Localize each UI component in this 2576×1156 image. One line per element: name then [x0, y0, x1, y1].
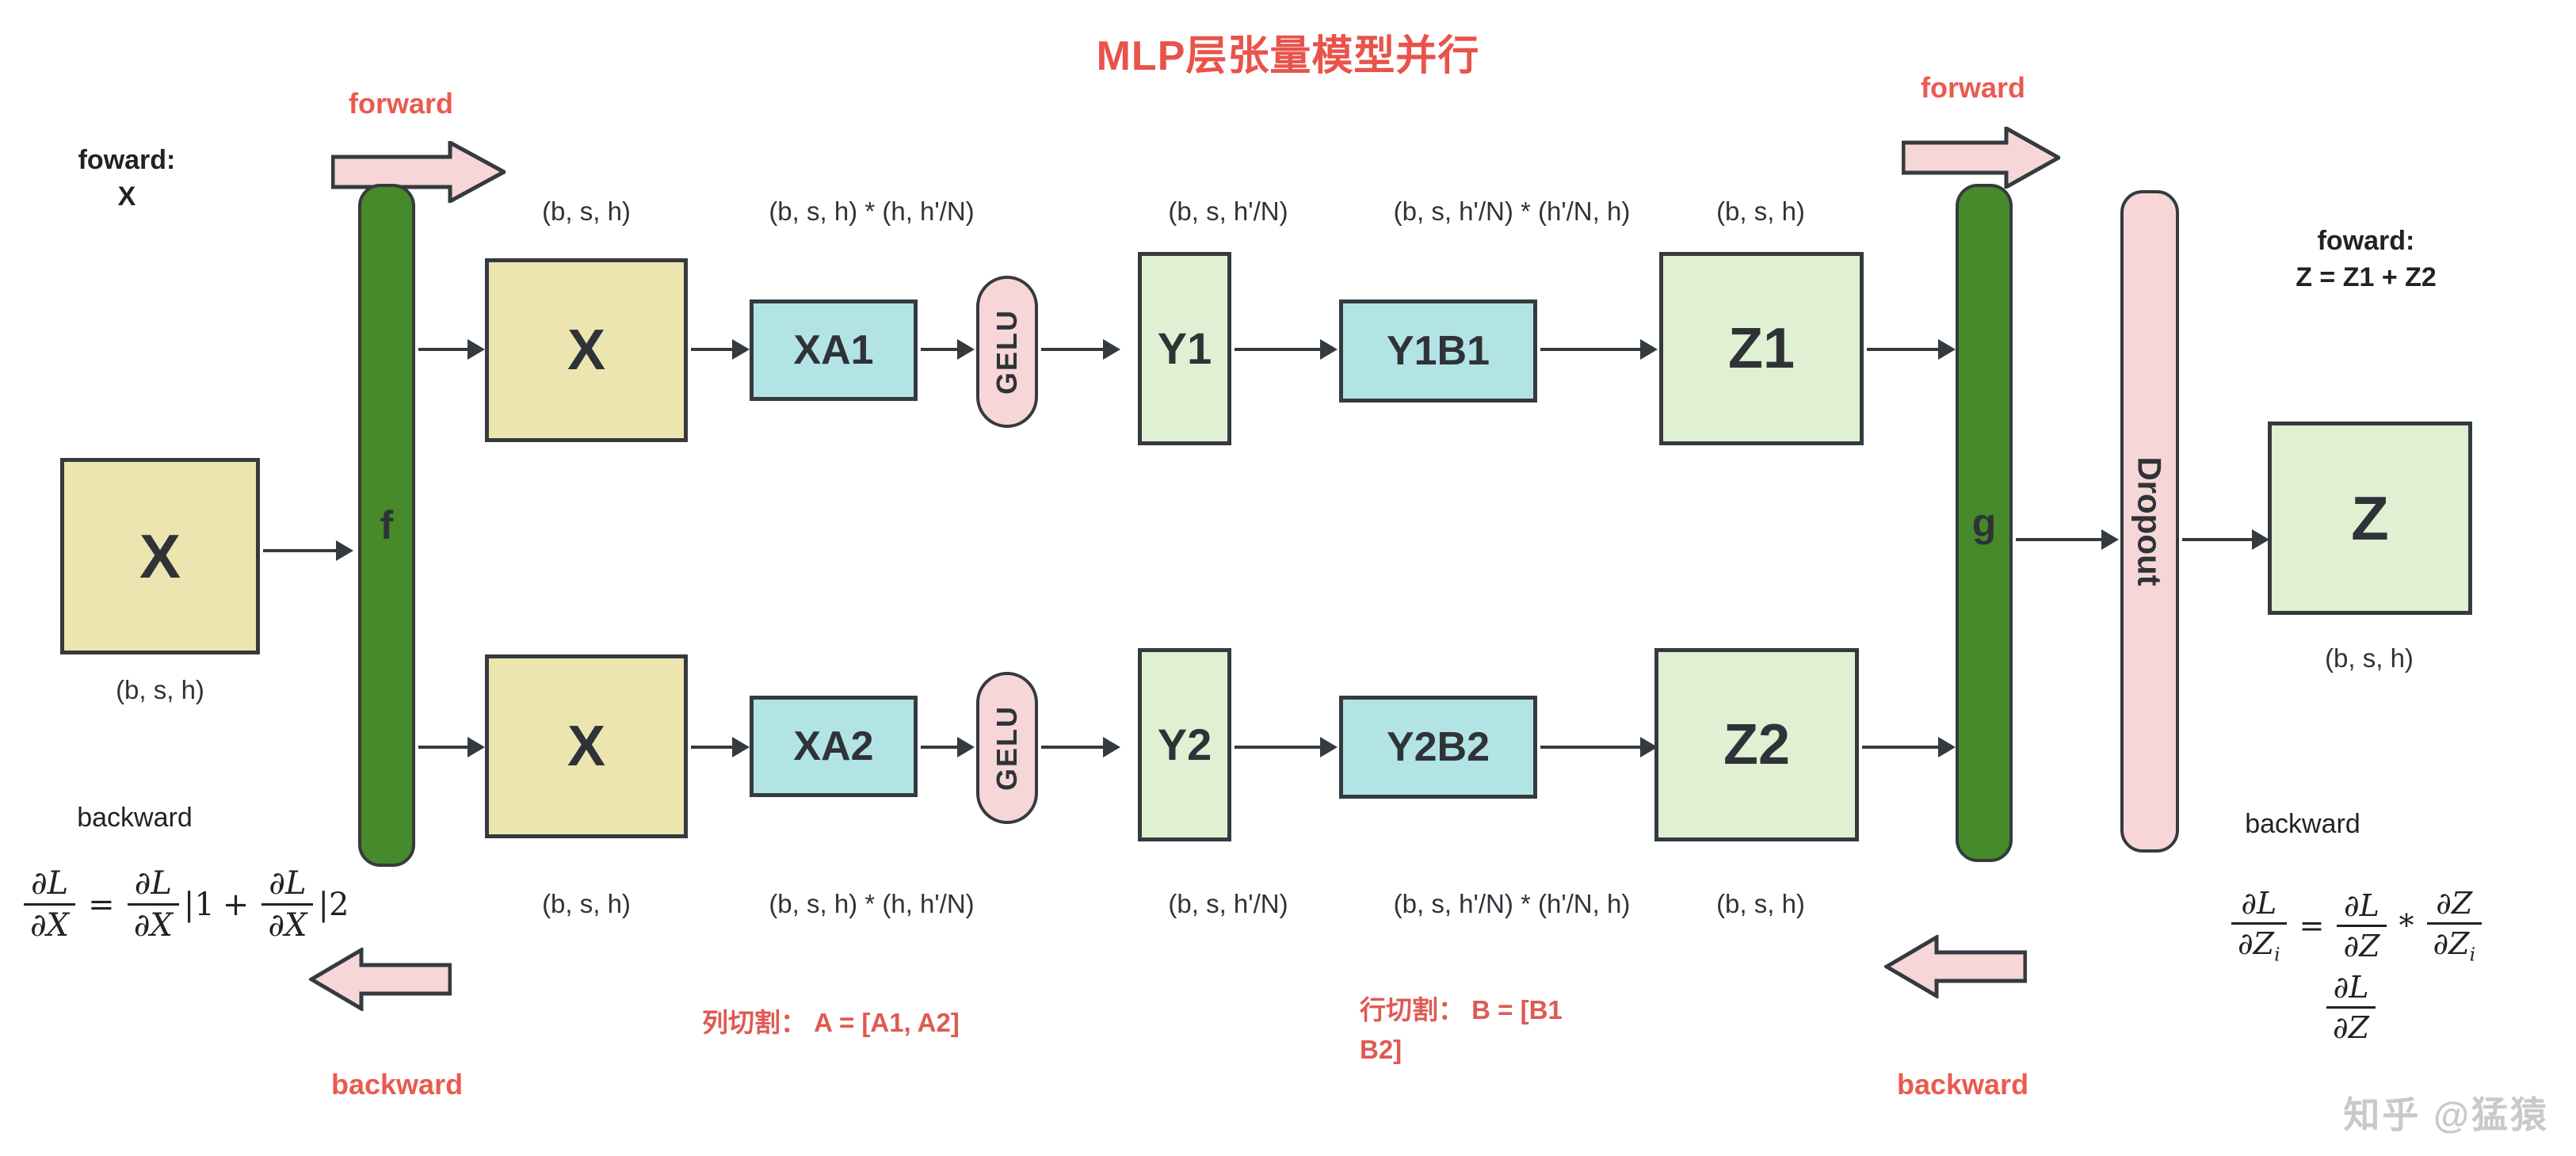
connector-row-1-x-to-xa	[691, 339, 750, 360]
connector-x-to-f	[263, 540, 353, 561]
f-bar-label: f	[380, 502, 394, 548]
dropout-label: Dropout	[2131, 456, 2169, 586]
right-backward-block-arrow-icon	[1884, 935, 2027, 998]
row-2-z-label: Z2	[1723, 716, 1790, 773]
right-forward-note: foward: Z = Z1 + Z2	[2208, 223, 2524, 296]
dim-top-2: (b, s, h'/N)	[1101, 196, 1355, 227]
connector-row-1-yb-to-z	[1540, 339, 1658, 360]
left-backward-arrow-label: backward	[331, 1068, 463, 1101]
left-forward-note: foward: X	[32, 143, 222, 216]
left-formula-plus: +	[223, 887, 250, 923]
right-formula-equals: =	[2299, 908, 2325, 943]
connector-row-2-x-to-xa	[691, 737, 750, 757]
connector-row-1-xa-to-gelu	[921, 339, 975, 360]
column-split-note: 列切割： A = [A1, A2]	[702, 1003, 960, 1043]
connector-row-2-yb-to-z	[1540, 737, 1658, 757]
row-1-yb-label: Y1B1	[1387, 330, 1490, 372]
left-forward-block-arrow-icon	[331, 141, 506, 203]
right-forward-block-arrow-icon	[1902, 127, 2060, 189]
output-z-dim: (b, s, h)	[2250, 643, 2488, 673]
row-2-xa-box: XA2	[750, 696, 918, 797]
right-formula-t1-den: ∂Z	[2337, 925, 2386, 963]
row-2-yb-box: Y2B2	[1339, 696, 1537, 799]
dropout-bar: Dropout	[2120, 190, 2179, 853]
dim-bottom-1: (b, s, h) * (h, h'/N)	[713, 889, 1030, 919]
diagram-canvas: MLP层张量模型并行 foward: X forward X (b, s, h)…	[0, 0, 2576, 1156]
row-2-gelu-node: GELU	[976, 672, 1038, 824]
left-formula-lhs: ∂L ∂X	[24, 865, 75, 944]
row-2-y-label: Y2	[1158, 723, 1212, 767]
right-formula-line2-den: ∂Z	[2326, 1006, 2376, 1045]
left-formula-term1: ∂L ∂X	[128, 865, 179, 944]
right-formula-term2: ∂Z ∂Zi	[2427, 886, 2483, 966]
right-formula-t1-num: ∂L	[2337, 888, 2386, 925]
right-backward-formula-line2: ∂L ∂Z	[2322, 970, 2380, 1045]
connector-row-2-gelu-to-y	[1041, 737, 1120, 757]
left-formula-t1-den: ∂X	[128, 903, 179, 944]
right-backward-label: backward	[2192, 807, 2414, 843]
input-x-label: X	[139, 525, 181, 587]
left-backward-formula: ∂L ∂X = ∂L ∂X |1 + ∂L ∂X |2	[19, 865, 349, 944]
right-formula-multiply: *	[2399, 908, 2414, 943]
left-formula-t2-suffix: |2	[318, 887, 349, 923]
connector-g-to-dropout	[2016, 529, 2119, 550]
right-formula-lhs-den: ∂Zi	[2231, 922, 2287, 966]
left-formula-t1-num: ∂L	[128, 865, 178, 903]
right-formula-lhs: ∂L ∂Zi	[2231, 886, 2287, 966]
connector-f-to-x-row2	[418, 737, 485, 757]
output-z-label: Z	[2351, 487, 2389, 549]
connector-f-to-x-row1	[418, 339, 485, 360]
right-formula-line2-num: ∂L	[2327, 970, 2376, 1006]
connector-row-1-gelu-to-y	[1041, 339, 1120, 360]
connector-row-1-z-to-g	[1867, 339, 1956, 360]
left-formula-equals: =	[88, 887, 115, 923]
row-1-gelu-node: GELU	[976, 276, 1038, 428]
connector-row-1-y-to-yb	[1235, 339, 1338, 360]
connector-row-2-y-to-yb	[1235, 737, 1338, 757]
row-1-y-box: Y1	[1138, 252, 1231, 445]
row-2-xa-label: XA2	[793, 726, 873, 767]
left-formula-lhs-den: ∂X	[24, 903, 75, 944]
right-forward-arrow-label: forward	[1921, 71, 2025, 105]
right-backward-formula: ∂L ∂Zi = ∂L ∂Z * ∂Z ∂Zi	[2227, 886, 2486, 966]
dim-bottom-4: (b, s, h)	[1642, 889, 1880, 919]
left-formula-term2: ∂L ∂X	[261, 865, 313, 944]
left-forward-arrow-label: forward	[349, 87, 453, 120]
dim-bottom-0: (b, s, h)	[472, 889, 700, 919]
left-formula-lhs-num: ∂L	[25, 865, 74, 903]
input-x-box: X	[60, 458, 260, 654]
row-1-yb-box: Y1B1	[1339, 299, 1537, 403]
left-backward-block-arrow-icon	[309, 948, 452, 1011]
right-formula-t2-den: ∂Zi	[2427, 922, 2483, 966]
row-1-z-label: Z1	[1728, 320, 1795, 377]
f-gather-bar: f	[358, 184, 415, 867]
dim-top-4: (b, s, h)	[1642, 196, 1880, 227]
left-formula-t1-suffix: |1	[184, 887, 215, 923]
row-2-x-box: X	[485, 654, 688, 838]
right-formula-term1: ∂L ∂Z	[2337, 888, 2386, 963]
left-formula-t2-den: ∂X	[261, 903, 313, 944]
row-1-xa-label: XA1	[793, 330, 873, 371]
row-1-xa-box: XA1	[750, 299, 918, 401]
row-2-yb-label: Y2B2	[1387, 727, 1490, 768]
page-title: MLP层张量模型并行	[0, 22, 2576, 82]
right-formula-t2-num: ∂Z	[2429, 886, 2479, 922]
left-backward-label: backward	[24, 800, 246, 837]
g-gather-bar: g	[1956, 184, 2013, 862]
right-formula-line2-frac: ∂L ∂Z	[2326, 970, 2376, 1045]
dim-top-0: (b, s, h)	[472, 196, 700, 227]
left-formula-t2-num: ∂L	[262, 865, 312, 903]
row-2-gelu-label: GELU	[990, 705, 1024, 791]
row-1-x-label: X	[567, 322, 605, 379]
row-1-z-box: Z1	[1659, 252, 1864, 445]
row-split-note: 行切割： B = [B1 B2]	[1360, 990, 1563, 1069]
right-formula-lhs-num: ∂L	[2234, 886, 2283, 922]
input-x-dim: (b, s, h)	[36, 675, 284, 705]
row-2-x-label: X	[567, 718, 605, 775]
row-2-y-box: Y2	[1138, 648, 1231, 841]
row-1-y-label: Y1	[1158, 326, 1212, 371]
connector-dropout-to-z	[2182, 529, 2269, 550]
right-backward-arrow-label: backward	[1897, 1068, 2028, 1101]
row-2-z-box: Z2	[1654, 648, 1859, 841]
row-1-x-box: X	[485, 258, 688, 442]
connector-row-2-z-to-g	[1862, 737, 1956, 757]
connector-row-2-xa-to-gelu	[921, 737, 975, 757]
g-bar-label: g	[1972, 500, 1997, 546]
dim-top-1: (b, s, h) * (h, h'/N)	[713, 196, 1030, 227]
row-1-gelu-label: GELU	[990, 309, 1024, 395]
output-z-box: Z	[2268, 422, 2472, 615]
dim-bottom-2: (b, s, h'/N)	[1101, 889, 1355, 919]
watermark: 知乎 @猛猿	[2343, 1086, 2549, 1139]
